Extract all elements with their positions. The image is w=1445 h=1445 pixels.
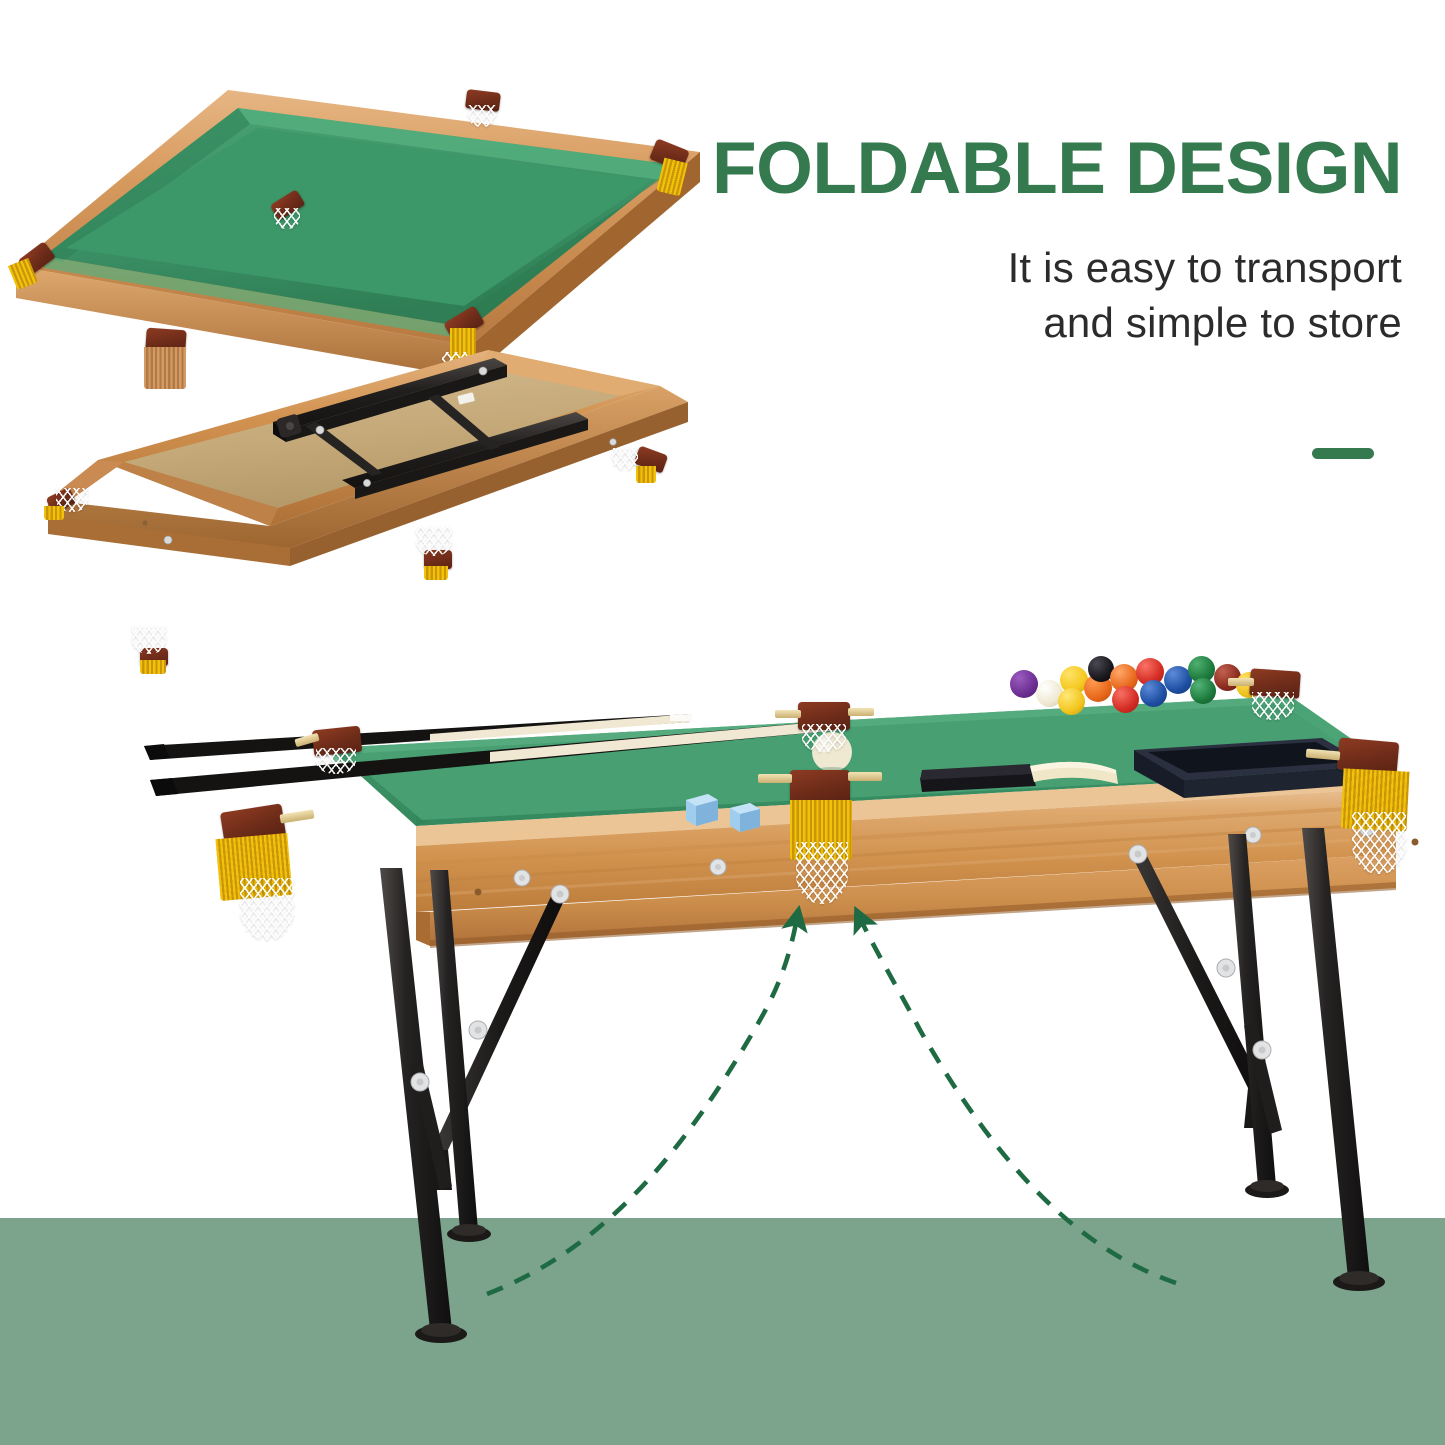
folded-pool-table-underside-view bbox=[20, 330, 710, 630]
billiard-ball bbox=[1112, 686, 1139, 713]
accent-divider bbox=[1312, 448, 1374, 459]
pocket-fringe bbox=[44, 506, 64, 520]
pocket-net bbox=[468, 105, 496, 127]
assembled-pool-table bbox=[130, 630, 1445, 1370]
pocket-leather-flap bbox=[790, 770, 850, 802]
pocket-fringe bbox=[424, 566, 448, 580]
subtitle-line-2: and simple to store bbox=[702, 295, 1402, 350]
pocket-net bbox=[802, 724, 846, 752]
subtitle-line-1: It is easy to transport bbox=[702, 240, 1402, 295]
pocket-rail-cap bbox=[848, 708, 874, 716]
pocket-net bbox=[1252, 692, 1294, 720]
billiard-ball bbox=[1140, 680, 1167, 707]
pocket-rail-cap bbox=[848, 772, 882, 781]
pocket-net bbox=[240, 878, 294, 940]
page-subtitle: It is easy to transport and simple to st… bbox=[702, 240, 1402, 351]
billiard-ball bbox=[1058, 688, 1085, 715]
marketing-image-canvas: FOLDABLE DESIGN It is easy to transport … bbox=[0, 0, 1445, 1445]
billiard-ball bbox=[1010, 670, 1038, 698]
chalk-cube bbox=[730, 803, 760, 832]
pocket-net bbox=[796, 842, 848, 904]
pocket-net bbox=[416, 526, 452, 556]
pocket-net bbox=[274, 208, 300, 229]
pocket-fringe bbox=[636, 466, 656, 483]
billiard-ball bbox=[1190, 678, 1216, 704]
pocket-net bbox=[612, 448, 638, 470]
pocket-net bbox=[316, 748, 356, 774]
pocket-rail-cap bbox=[758, 774, 792, 783]
pocket-rail-cap bbox=[775, 710, 801, 718]
chalk-cube bbox=[686, 794, 718, 826]
pocket-net bbox=[1352, 812, 1406, 874]
pocket-rail-cap bbox=[1228, 678, 1254, 686]
page-title: FOLDABLE DESIGN bbox=[712, 132, 1402, 205]
